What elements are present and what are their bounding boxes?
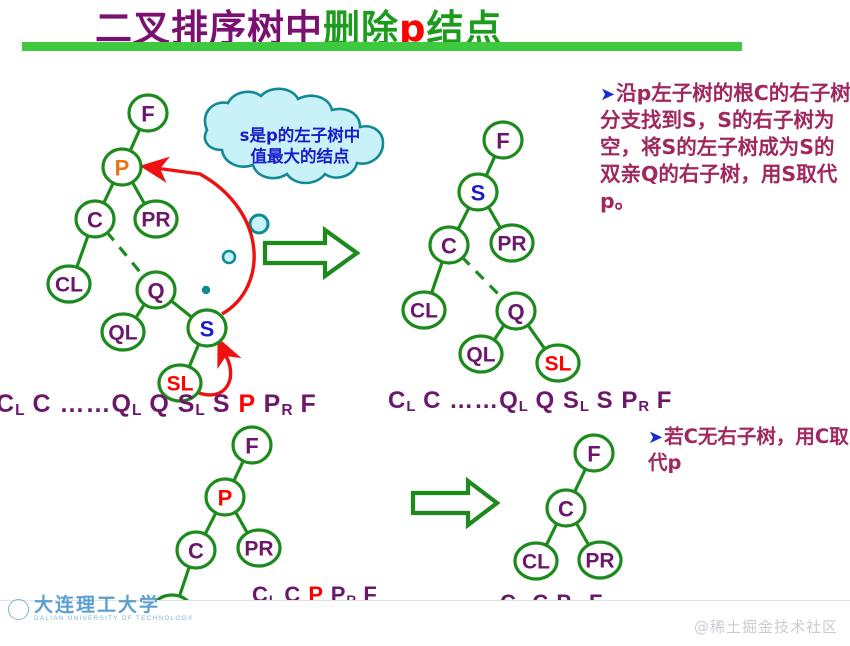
node-label: S — [200, 317, 215, 342]
note-1-text: 沿p左子树的根C的右子树分支找到S，S的右子树为空，将S的左子树成为S的双亲Q的… — [600, 81, 850, 213]
callout-line-1: s是p的左子树中 — [200, 125, 400, 146]
tree-edge — [179, 566, 189, 597]
title-area: 二叉排序树中删除p结点 — [0, 0, 850, 58]
callout-text: s是p的左子树中 值最大的结点 — [200, 125, 400, 167]
node-label: Q — [147, 279, 164, 304]
transform-arrow-top — [265, 230, 357, 276]
tree-node-cl: CL — [515, 543, 557, 579]
node-circle — [135, 201, 177, 237]
node-circle — [238, 530, 280, 566]
tree-edge — [462, 257, 503, 299]
node-label: PR — [244, 538, 273, 561]
tree-after-replace-with-s: FSCPRCLQQLSL — [403, 122, 579, 381]
node-label: F — [587, 442, 600, 467]
tree-edge — [130, 128, 140, 151]
tree-edge — [488, 206, 501, 229]
university-name-en: DALIAN UNIVERSITY OF TECHNOLOGY — [34, 616, 193, 623]
note-block-step-2: ➤若C无右子树，用C取代p — [648, 424, 850, 475]
node-circle — [497, 293, 535, 329]
tree-node-pr: PR — [491, 225, 533, 261]
tree-node-f: F — [575, 435, 613, 471]
tree-node-sl: SL — [537, 345, 579, 381]
node-circle — [102, 314, 144, 350]
node-label: PR — [585, 550, 614, 573]
bullet-arrow-icon: ➤ — [600, 84, 615, 105]
tree-edge — [170, 300, 192, 318]
node-circle — [403, 292, 445, 328]
tree-edge — [576, 522, 589, 546]
tree-node-c: C — [177, 532, 215, 568]
node-label: SL — [545, 353, 572, 376]
tree-node-ql: QL — [460, 336, 502, 372]
tree-node-pr: PR — [579, 542, 621, 578]
tree-edge — [235, 511, 248, 534]
node-circle — [76, 201, 114, 237]
bullet-arrow-icon: ➤ — [648, 427, 663, 448]
tree-node-c: C — [547, 490, 585, 526]
node-circle — [206, 479, 244, 515]
node-circle — [547, 490, 585, 526]
node-label: F — [245, 434, 258, 459]
tree-edge — [107, 232, 145, 277]
university-name-cn: 大连理工大学 — [34, 596, 193, 616]
node-circle — [188, 310, 226, 346]
tree-edge — [233, 460, 243, 482]
node-circle — [103, 149, 141, 185]
node-circle — [129, 95, 167, 131]
node-circle — [430, 227, 468, 263]
callout-line-2: 值最大的结点 — [200, 146, 400, 167]
inorder-sequence-after-s: CL C ……QL Q SL S PR F — [388, 387, 672, 415]
tree-node-c: C — [430, 227, 468, 263]
tree-edge — [494, 324, 505, 341]
node-circle — [491, 225, 533, 261]
node-label: C — [87, 208, 103, 233]
tree-edge — [546, 523, 557, 546]
tree-node-p: P — [103, 149, 141, 185]
node-circle — [459, 174, 497, 210]
tree-edge — [486, 155, 495, 176]
tree-edge — [135, 303, 145, 318]
cloud-callout — [203, 89, 383, 294]
tree-edge — [189, 343, 199, 367]
tree-edge — [458, 207, 470, 230]
node-label: F — [141, 102, 154, 127]
node-label: CL — [522, 551, 550, 574]
tree-edge — [132, 181, 145, 205]
node-label: P — [218, 486, 233, 511]
node-label: P — [115, 156, 130, 181]
transform-arrow-bottom — [413, 481, 497, 525]
tree-node-cl: CL — [48, 266, 90, 302]
tree-edge — [103, 182, 113, 204]
node-label: C — [188, 539, 204, 564]
tree-node-ql: QL — [102, 314, 144, 350]
node-label: C — [441, 234, 457, 259]
node-label: Q — [507, 300, 524, 325]
note-block-step-1: ➤沿p左子树的根C的右子树分支找到S，S的右子树为空，将S的左子树成为S的双亲Q… — [600, 80, 850, 215]
node-circle — [233, 427, 271, 463]
tree-edge — [431, 261, 442, 294]
node-circle — [575, 435, 613, 471]
tree-node-pr: PR — [135, 201, 177, 237]
slide-canvas: 二叉排序树中删除p结点 FPCPRCLQQLS — [0, 0, 850, 646]
note-2-text: 若C无右子树，用C取代p — [648, 425, 849, 474]
tree-node-p: P — [206, 479, 244, 515]
tree-node-f: F — [129, 95, 167, 131]
node-circle — [48, 266, 90, 302]
node-label: S — [471, 181, 486, 206]
tree-node-f: F — [484, 122, 522, 158]
node-label: QL — [466, 344, 495, 367]
node-circle — [177, 532, 215, 568]
node-label: PR — [497, 233, 526, 256]
tree-node-q: Q — [137, 272, 175, 308]
tree-node-f: F — [233, 427, 271, 463]
node-circle — [484, 122, 522, 158]
node-circle — [460, 336, 502, 372]
inorder-sequence-before: CL C ……QL Q SL S P PR F — [0, 390, 317, 419]
tree-node-c: C — [76, 201, 114, 237]
university-seal-icon — [8, 599, 29, 620]
tree-edge — [574, 468, 586, 493]
node-label: C — [558, 497, 574, 522]
node-label: CL — [410, 300, 438, 323]
title-underline-bar — [22, 42, 742, 51]
university-logo: 大连理工大学 DALIAN UNIVERSITY OF TECHNOLOGY — [8, 596, 193, 623]
node-label: F — [496, 129, 509, 154]
watermark-text: @稀土掘金技术社区 — [694, 616, 838, 637]
tree-node-s: S — [188, 310, 226, 346]
tree-node-q: Q — [497, 293, 535, 329]
tree-edge — [527, 324, 545, 350]
tree-node-pr: PR — [238, 530, 280, 566]
node-label: QL — [108, 322, 137, 345]
node-circle — [537, 345, 579, 381]
tree-bottom-after: FCCLPR — [515, 435, 621, 579]
tree-edge — [205, 512, 217, 535]
node-label: CL — [55, 274, 83, 297]
node-circle — [579, 542, 621, 578]
node-circle — [515, 543, 557, 579]
red-annotation-curves — [148, 167, 254, 395]
node-circle — [137, 272, 175, 308]
tree-edge — [76, 235, 88, 268]
tree-node-cl: CL — [403, 292, 445, 328]
tree-node-s: S — [459, 174, 497, 210]
university-name-block: 大连理工大学 DALIAN UNIVERSITY OF TECHNOLOGY — [34, 596, 193, 623]
node-label: PR — [141, 209, 170, 232]
